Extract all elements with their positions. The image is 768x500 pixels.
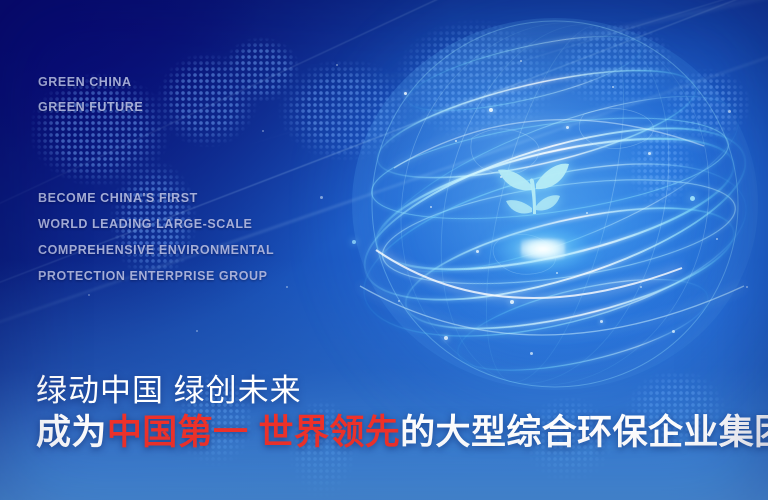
tagline-mid-block: BECOME CHINA'S FIRST WORLD LEADING LARGE…	[38, 185, 274, 289]
tagline-mid-line-1: BECOME CHINA'S FIRST	[38, 185, 274, 211]
headline-line-2-prefix: 成为	[36, 413, 107, 452]
headline-line-2: 成为中国第一 世界领先的大型综合环保企业集团	[36, 411, 742, 455]
tagline-mid-line-2: WORLD LEADING LARGE-SCALE	[38, 211, 274, 237]
headline-line-2-suffix: 的大型综合环保企业集团	[400, 413, 768, 452]
tagline-mid-line-3: COMPREHENSIVE ENVIRONMENTAL	[38, 237, 274, 263]
tagline-top-block: GREEN CHINA GREEN FUTURE	[38, 70, 143, 120]
hero-banner: GREEN CHINA GREEN FUTURE BECOME CHINA'S …	[0, 0, 768, 500]
headline-line-2-accent: 中国第一 世界领先	[107, 413, 400, 452]
tagline-top-line-1: GREEN CHINA	[38, 70, 143, 95]
headline-line-1: 绿动中国 绿创未来	[36, 371, 742, 411]
headline-block: 绿动中国 绿创未来 成为中国第一 世界领先的大型综合环保企业集团	[36, 371, 742, 455]
tagline-top-line-2: GREEN FUTURE	[38, 95, 143, 120]
tagline-mid-line-4: PROTECTION ENTERPRISE GROUP	[38, 263, 274, 289]
